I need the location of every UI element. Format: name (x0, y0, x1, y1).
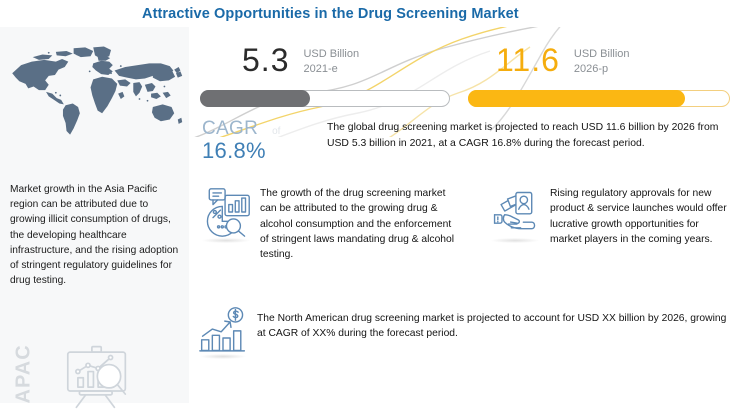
cagr-top-row: CAGR of (202, 118, 322, 140)
stat-unit-2026: USD Billion 2026-p (574, 47, 630, 76)
left-panel-paragraph: Market growth in the Asia Pacific region… (10, 182, 185, 288)
stat-block-2021: 5.3 USD Billion 2021-e (200, 40, 450, 107)
insight-card-north-america: The North American drug screening market… (198, 306, 733, 354)
insight-card-north-america-text: The North American drug screening market… (257, 311, 727, 342)
stat-block-2026: 11.6 USD Billion 2026-p (468, 40, 730, 107)
insight-card-growth-drivers: The growth of the drug screening market … (200, 186, 462, 262)
stat-period-2026: 2026-p (574, 62, 630, 77)
page-header: Attractive Opportunities in the Drug Scr… (0, 0, 740, 27)
cagr-connector: of (272, 126, 280, 137)
progress-bar-fill-2021 (200, 90, 310, 107)
stat-unit-label-2021: USD Billion (303, 47, 359, 62)
region-label-apac: APAC (13, 334, 36, 404)
growth-bar-chart-dollar-icon (198, 306, 248, 354)
stat-unit-2021: USD Billion 2021-e (303, 47, 359, 76)
hand-holding-documents-icon (489, 186, 541, 238)
market-summary-text: The global drug screening market is proj… (327, 120, 731, 152)
presentation-chart-magnifier-icon (55, 342, 135, 412)
stat-unit-label-2026: USD Billion (574, 47, 630, 62)
progress-bar-2021 (200, 90, 450, 107)
stat-value-2021: 5.3 (242, 40, 289, 80)
pie-bar-chart-magnifier-icon (200, 186, 252, 238)
progress-bar-2026 (468, 90, 730, 107)
cagr-value: 16.8% (202, 138, 322, 164)
insight-card-growth-drivers-text: The growth of the drug screening market … (260, 186, 460, 262)
cagr-block: CAGR of 16.8% (202, 118, 322, 164)
cagr-label: CAGR (202, 118, 258, 140)
world-map-icon (6, 35, 184, 155)
page-title: Attractive Opportunities in the Drug Scr… (142, 6, 519, 22)
stat-header-2026: 11.6 USD Billion 2026-p (468, 40, 730, 86)
progress-bar-fill-2026 (468, 90, 685, 107)
stat-header-2021: 5.3 USD Billion 2021-e (200, 40, 450, 86)
insight-card-regulatory-approvals-text: Rising regulatory approvals for new prod… (550, 186, 730, 247)
left-sidebar: Market growth in the Asia Pacific region… (0, 27, 190, 403)
stat-period-2021: 2021-e (303, 62, 359, 77)
stat-value-2026: 11.6 (496, 40, 560, 80)
insight-card-regulatory-approvals: Rising regulatory approvals for new prod… (489, 186, 734, 247)
